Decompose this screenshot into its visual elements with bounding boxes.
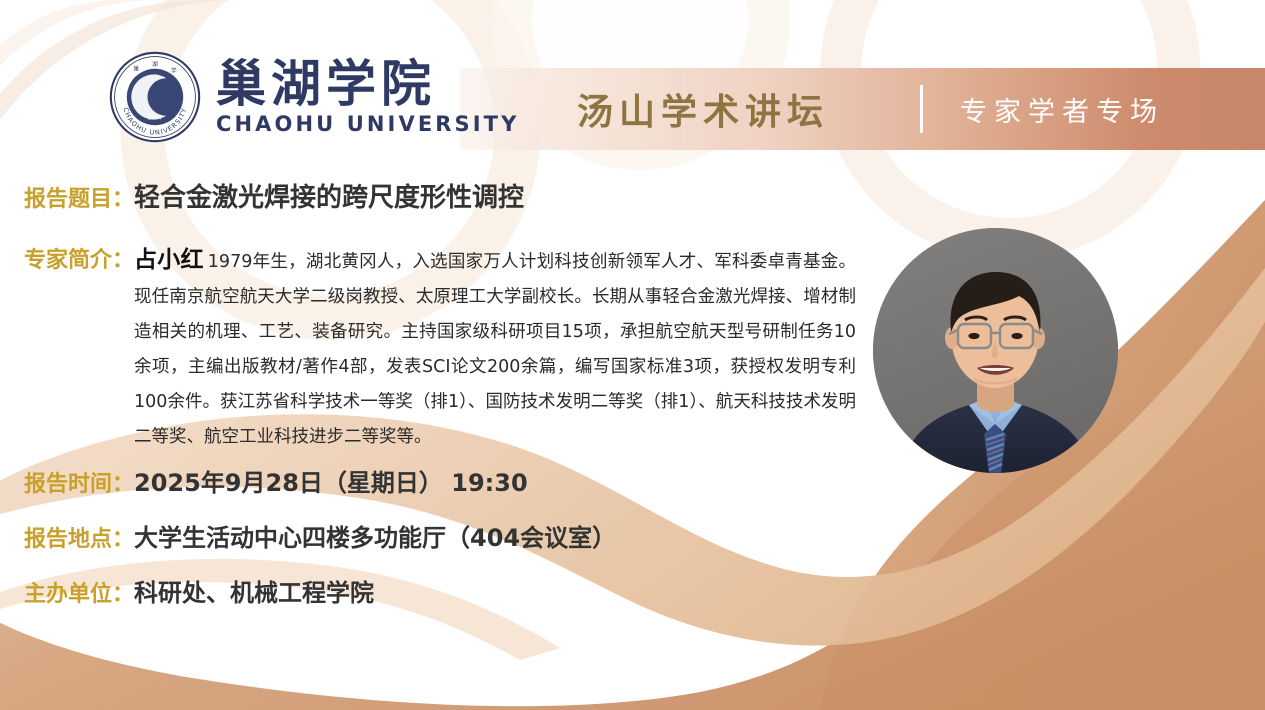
- speaker-portrait-image: [873, 228, 1118, 473]
- lecture-time-label: 报告时间：: [24, 466, 134, 498]
- lecture-host-label: 主办单位：: [24, 576, 134, 608]
- lecture-place-value: 大学生活动中心四楼多功能厅（404会议室）: [134, 518, 616, 553]
- lecture-host-row: 主办单位： 科研处、机械工程学院: [24, 573, 374, 608]
- speaker-bio-body: 1979年生，湖北黄冈人，入选国家万人计划科技创新领军人才、军科委卓青基金。现任…: [134, 252, 856, 447]
- lecture-time-value: 2025年9月28日（星期日） 19:30: [134, 463, 528, 498]
- poster-root: 汤山学术讲坛 专家学者专场 1977 CHAOHU UNIVERSITY 巢 湖: [0, 0, 1265, 710]
- lecture-host-value: 科研处、机械工程学院: [134, 573, 374, 608]
- speaker-bio-text: 占小红1979年生，湖北黄冈人，入选国家万人计划科技创新领军人才、军科委卓青基金…: [134, 243, 856, 455]
- speaker-portrait: [873, 228, 1118, 473]
- speaker-name: 占小红: [134, 247, 204, 273]
- lecture-place-row: 报告地点： 大学生活动中心四楼多功能厅（404会议室）: [24, 518, 616, 553]
- lecture-time-row: 报告时间： 2025年9月28日（星期日） 19:30: [24, 463, 528, 498]
- speaker-bio-row: 专家简介： 占小红1979年生，湖北黄冈人，入选国家万人计划科技创新领军人才、军…: [24, 243, 884, 455]
- lecture-title-label: 报告题目：: [24, 181, 134, 213]
- lecture-title-row: 报告题目： 轻合金激光焊接的跨尺度形性调控: [24, 177, 524, 214]
- speaker-bio-label: 专家简介：: [24, 243, 134, 278]
- lecture-title-value: 轻合金激光焊接的跨尺度形性调控: [134, 177, 524, 214]
- lecture-place-label: 报告地点：: [24, 521, 134, 553]
